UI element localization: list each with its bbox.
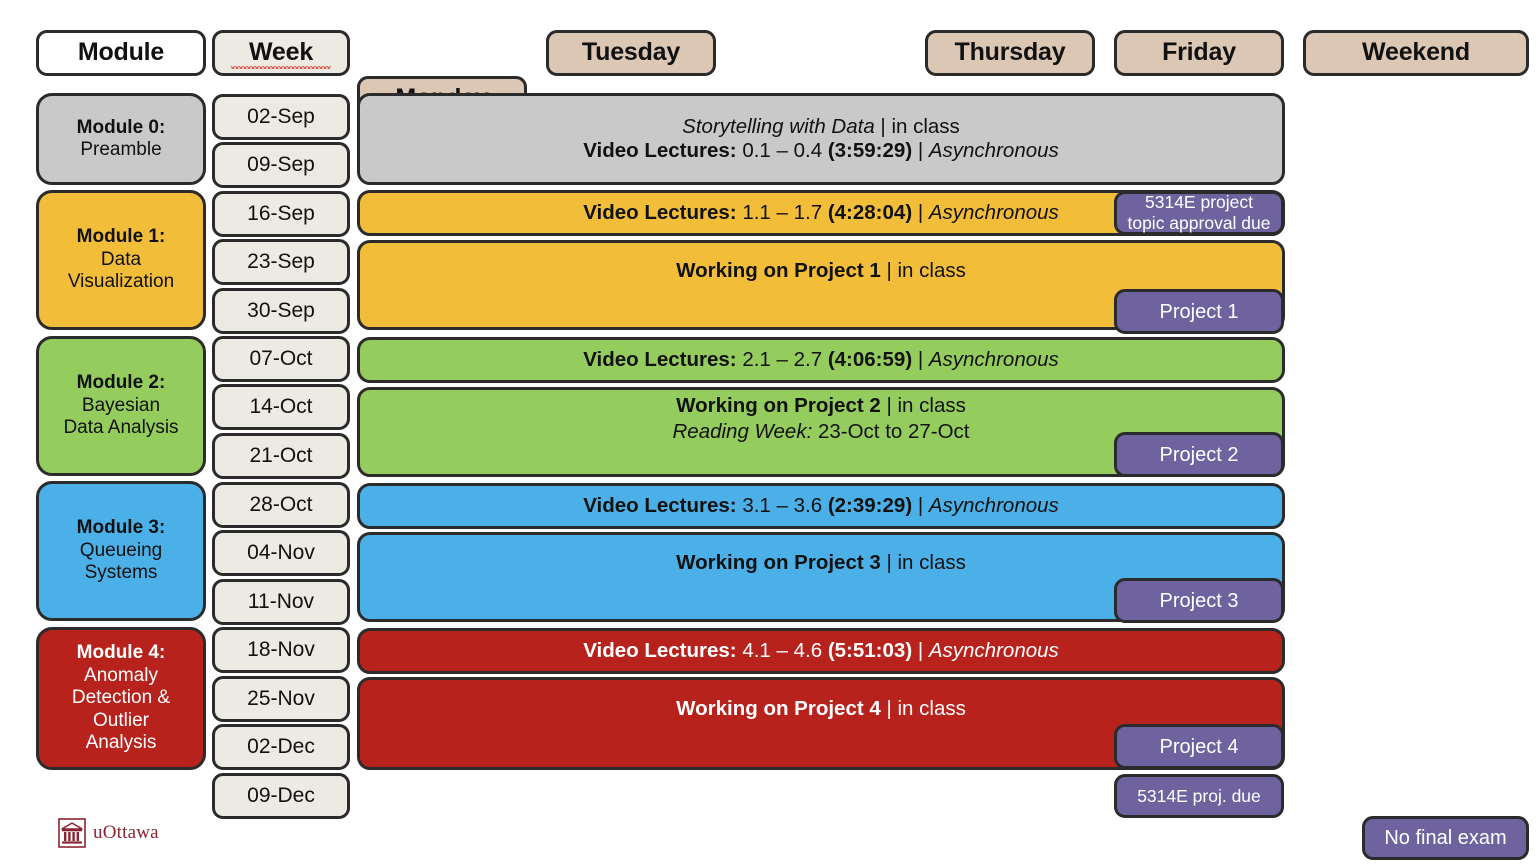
header-label: Week <box>249 38 313 68</box>
activity-mode: Asynchronous <box>929 348 1059 371</box>
activity-line-1: Working on Project 1 | in class <box>676 259 966 283</box>
module-subtitle: Preamble <box>80 139 161 161</box>
week-cell-9: 04-Nov <box>212 530 350 576</box>
module-subtitle-2: Data Analysis <box>63 417 178 439</box>
week-label: 18-Nov <box>247 638 315 663</box>
week-label: 09-Dec <box>247 784 315 809</box>
week-cell-6: 14-Oct <box>212 384 350 430</box>
lecture-range: 4.1 – 4.6 <box>737 639 828 662</box>
lecture-duration: (5:51:03) <box>828 639 912 662</box>
week-cell-2: 16-Sep <box>212 191 350 237</box>
week-cell-4: 30-Sep <box>212 288 350 334</box>
pavilion-icon <box>58 818 86 848</box>
week-label: 25-Nov <box>247 687 315 712</box>
badge-project-2[interactable]: Project 2 <box>1114 432 1284 477</box>
activity-bar-module0: Storytelling with Data | in class Video … <box>357 93 1285 185</box>
week-cell-1: 09-Sep <box>212 142 350 188</box>
activity-mode: Asynchronous <box>929 201 1059 224</box>
project-label: Working on Project 3 <box>676 551 881 574</box>
lecture-label: Video Lectures: <box>583 201 736 224</box>
reading-week-dates: 23-Oct to 27-Oct <box>812 420 969 443</box>
week-cell-14: 09-Dec <box>212 773 350 819</box>
activity-line-1: Working on Project 2 | in class <box>676 394 966 418</box>
lecture-duration: (2:39:29) <box>828 494 912 517</box>
separator: | <box>912 494 929 517</box>
lecture-label: Video Lectures: <box>583 139 736 162</box>
module-subtitle: Data <box>101 249 141 271</box>
badge-label: 5314E proj. due <box>1137 786 1261 807</box>
activity-line-1: Video Lectures: 1.1 – 1.7 (4:28:04) | As… <box>583 201 1059 225</box>
badge-line-1: 5314E project <box>1145 192 1253 213</box>
header-cell-weekend: Weekend <box>1303 30 1529 76</box>
module-subtitle: Queueing <box>80 540 162 562</box>
header-label: Friday <box>1162 38 1236 68</box>
week-label: 23-Sep <box>247 250 315 275</box>
module-title: Module 0: <box>77 117 166 139</box>
reading-week-label: Reading Week: <box>672 420 812 443</box>
badge-project-1[interactable]: Project 1 <box>1114 289 1284 334</box>
week-label: 02-Dec <box>247 735 315 760</box>
activity-mode: in class <box>898 259 966 282</box>
badge-label: No final exam <box>1384 826 1506 850</box>
activity-line-2: Video Lectures: 0.1 – 0.4 (3:59:29) | As… <box>583 139 1059 163</box>
separator: | <box>912 348 929 371</box>
activity-line-1: Video Lectures: 2.1 – 2.7 (4:06:59) | As… <box>583 348 1059 372</box>
module-cell-3: Module 3: Queueing Systems <box>36 481 206 621</box>
separator: | <box>912 139 929 162</box>
lecture-label: Video Lectures: <box>583 639 736 662</box>
lecture-duration: (3:59:29) <box>828 139 912 162</box>
activity-bar-module4-lectures: Video Lectures: 4.1 – 4.6 (5:51:03) | As… <box>357 628 1285 674</box>
week-label: 30-Sep <box>247 299 315 324</box>
badge-line-2: topic approval due <box>1127 213 1270 234</box>
header-cell-tuesday: Tuesday <box>546 30 716 76</box>
header-label: Tuesday <box>582 38 680 68</box>
header-label: Weekend <box>1362 38 1470 68</box>
separator: | <box>881 394 898 417</box>
week-label: 14-Oct <box>249 395 312 420</box>
badge-project-4[interactable]: Project 4 <box>1114 724 1284 769</box>
week-label: 28-Oct <box>249 493 312 518</box>
lecture-label: Video Lectures: <box>583 494 736 517</box>
activity-mode: Asynchronous <box>929 494 1059 517</box>
week-label: 07-Oct <box>249 347 312 372</box>
activity-line-1: Working on Project 4 | in class <box>676 697 966 721</box>
module-subtitle-2: Visualization <box>68 271 174 293</box>
module-title: Module 1: <box>77 226 166 248</box>
project-label: Working on Project 2 <box>676 394 881 417</box>
badge-project-3[interactable]: Project 3 <box>1114 578 1284 623</box>
lecture-range: 2.1 – 2.7 <box>737 348 828 371</box>
activity-line-2: Reading Week: 23-Oct to 27-Oct <box>672 420 969 444</box>
module-subtitle-3: Outlier <box>93 710 149 732</box>
activity-title: Storytelling with Data <box>682 115 875 138</box>
activity-mode: Asynchronous <box>929 639 1059 662</box>
module-cell-2: Module 2: Bayesian Data Analysis <box>36 336 206 476</box>
activity-mode: in class <box>898 394 966 417</box>
week-label: 09-Sep <box>247 153 315 178</box>
week-label: 21-Oct <box>249 444 312 469</box>
module-title: Module 4: <box>77 642 166 664</box>
module-subtitle: Bayesian <box>82 395 160 417</box>
module-subtitle-2: Detection & <box>72 687 170 709</box>
week-label: 16-Sep <box>247 202 315 227</box>
badge-label: Project 1 <box>1160 300 1239 324</box>
week-label: 02-Sep <box>247 105 315 130</box>
header-cell-thursday: Thursday <box>925 30 1095 76</box>
week-label: 11-Nov <box>248 590 314 615</box>
week-cell-12: 25-Nov <box>212 676 350 722</box>
activity-bar-module2-lectures: Video Lectures: 2.1 – 2.7 (4:06:59) | As… <box>357 337 1285 383</box>
badge-label: Project 2 <box>1160 443 1239 467</box>
week-cell-8: 28-Oct <box>212 482 350 528</box>
badge-no-final-exam[interactable]: No final exam <box>1362 816 1529 860</box>
module-title: Module 2: <box>77 372 166 394</box>
week-cell-10: 11-Nov <box>212 579 350 625</box>
lecture-range: 0.1 – 0.4 <box>737 139 828 162</box>
lecture-range: 3.1 – 3.6 <box>737 494 828 517</box>
week-cell-11: 18-Nov <box>212 627 350 673</box>
module-subtitle-2: Systems <box>85 562 158 584</box>
week-cell-7: 21-Oct <box>212 433 350 479</box>
activity-mode: in class <box>898 697 966 720</box>
lecture-duration: (4:06:59) <box>828 348 912 371</box>
week-cell-5: 07-Oct <box>212 336 350 382</box>
activity-line-1: Storytelling with Data | in class <box>682 115 960 139</box>
activity-bar-module3-lectures: Video Lectures: 3.1 – 3.6 (2:39:29) | As… <box>357 483 1285 529</box>
module-subtitle: Anomaly <box>84 665 158 687</box>
week-cell-3: 23-Sep <box>212 239 350 285</box>
module-cell-0: Module 0: Preamble <box>36 93 206 185</box>
week-label: 04-Nov <box>247 541 315 566</box>
lecture-label: Video Lectures: <box>583 348 736 371</box>
badge-label: Project 4 <box>1160 735 1239 759</box>
header-label: Module <box>78 38 164 68</box>
project-label: Working on Project 4 <box>676 697 881 720</box>
lecture-duration: (4:28:04) <box>828 201 912 224</box>
separator: | <box>881 551 898 574</box>
activity-mode: in class <box>891 115 959 138</box>
badge-topic-approval-due[interactable]: 5314E project topic approval due <box>1114 191 1284 235</box>
activity-mode: in class <box>898 551 966 574</box>
badge-5314e-proj-due[interactable]: 5314E proj. due <box>1114 774 1284 818</box>
activity-line-1: Working on Project 3 | in class <box>676 551 966 575</box>
separator: | <box>912 201 929 224</box>
header-label: Thursday <box>955 38 1066 68</box>
header-cell-friday: Friday <box>1114 30 1284 76</box>
module-cell-1: Module 1: Data Visualization <box>36 190 206 330</box>
module-title: Module 3: <box>77 517 166 539</box>
activity-mode: Asynchronous <box>929 139 1059 162</box>
badge-label: Project 3 <box>1160 589 1239 613</box>
logo-text: uOttawa <box>93 822 159 844</box>
week-cell-13: 02-Dec <box>212 724 350 770</box>
header-cell-module: Module <box>36 30 206 76</box>
uottawa-logo: uOttawa <box>58 818 159 848</box>
project-label: Working on Project 1 <box>676 259 881 282</box>
lecture-range: 1.1 – 1.7 <box>737 201 828 224</box>
week-cell-0: 02-Sep <box>212 94 350 140</box>
activity-line-1: Video Lectures: 4.1 – 4.6 (5:51:03) | As… <box>583 639 1059 663</box>
separator: | <box>881 259 898 282</box>
activity-line-1: Video Lectures: 3.1 – 3.6 (2:39:29) | As… <box>583 494 1059 518</box>
header-cell-week: Week <box>212 30 350 76</box>
module-cell-4: Module 4: Anomaly Detection & Outlier An… <box>36 627 206 770</box>
separator: | <box>912 639 929 662</box>
separator: | <box>881 697 898 720</box>
separator: | <box>875 115 892 138</box>
module-subtitle-4: Analysis <box>86 732 157 754</box>
